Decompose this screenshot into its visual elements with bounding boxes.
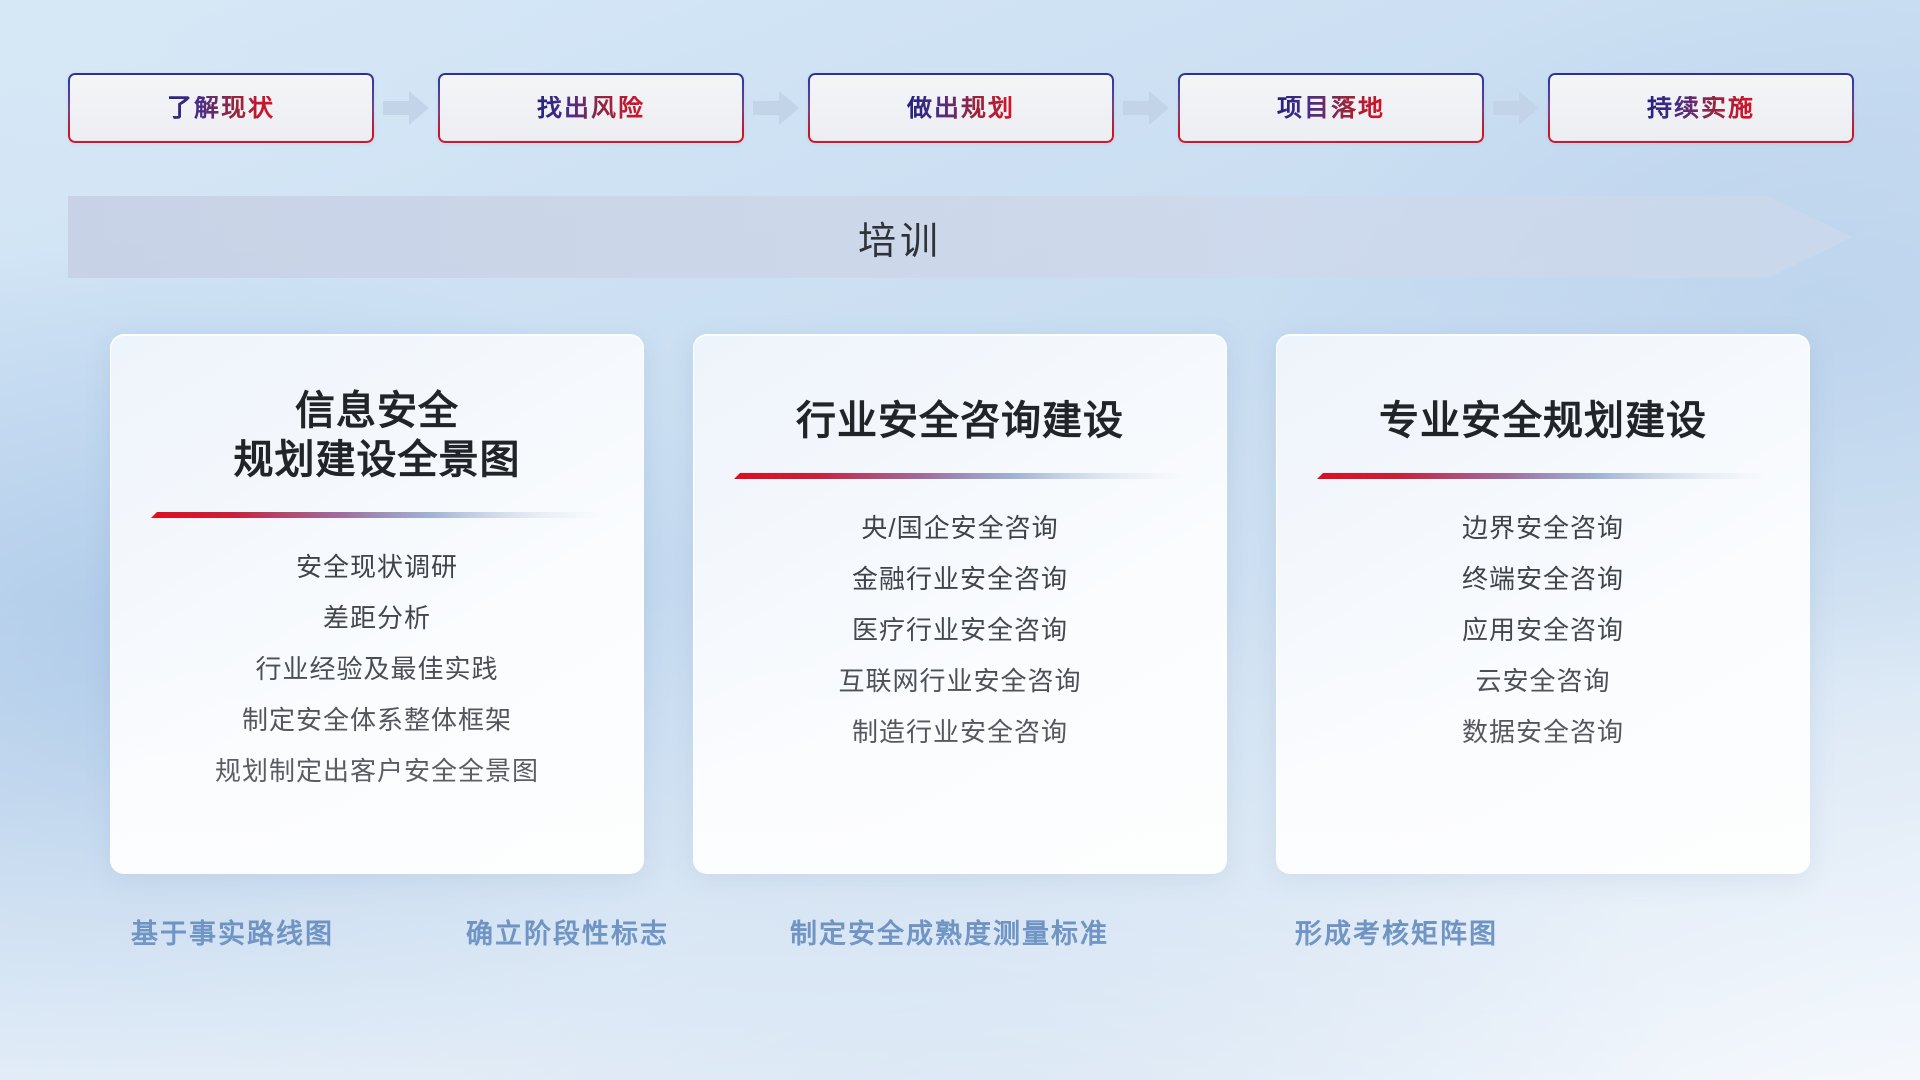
card-info-security-blueprint[interactable]: 信息安全 规划建设全景图 [110,334,644,874]
card-item-list: 央/国企安全咨询 金融行业安全咨询 医疗行业安全咨询 互联网行业安全咨询 制造行… [838,509,1081,752]
card-row: 信息安全 规划建设全景图 [110,334,1810,874]
process-step-3[interactable]: 项目落地 [1178,73,1484,143]
footer-label: 基于事实路线图 [131,912,334,951]
process-step-1[interactable]: 找出风险 [438,73,744,143]
process-step-0[interactable]: 了解现状 [68,73,374,143]
process-step-4[interactable]: 持续实施 [1548,73,1854,143]
card-list-item: 制定安全体系整体框架 [242,701,512,740]
process-step-2[interactable]: 做出规划 [808,73,1114,143]
process-step-label: 项目落地 [1277,96,1385,121]
process-step-row: 了解现状 找出风险 做出规划 项目落地 [68,72,1858,144]
right-arrow-icon [744,73,808,143]
footer-label: 形成考核矩阵图 [1295,912,1498,951]
card-list-item: 边界安全咨询 [1462,509,1624,548]
card-list-item: 央/国企安全咨询 [861,509,1058,548]
card-list-item: 医疗行业安全咨询 [852,611,1068,650]
card-list-item: 数据安全咨询 [1462,713,1624,752]
card-list-item: 安全现状调研 [296,548,458,587]
process-step-label: 找出风险 [537,96,645,121]
gradient-divider-icon [151,511,603,520]
card-list-item: 终端安全咨询 [1462,560,1624,599]
card-professional-security-planning[interactable]: 专业安全规划建设 [1276,334,1810,874]
card-list-item: 差距分析 [323,599,431,638]
footer-label-row: 基于事实路线图 确立阶段性标志 制定安全成熟度测量标准 形成考核矩阵图 [0,912,1920,960]
card-list-item: 制造行业安全咨询 [852,713,1068,752]
training-band-label: 培训 [68,196,1852,278]
process-step-label: 了解现状 [167,96,275,121]
card-list-item: 规划制定出客户安全全景图 [215,752,539,791]
card-industry-security-consulting[interactable]: 行业安全咨询建设 [693,334,1227,874]
card-item-list: 边界安全咨询 终端安全咨询 应用安全咨询 云安全咨询 数据安全咨询 [1462,509,1624,752]
gradient-divider-icon [734,472,1186,481]
process-step-label: 做出规划 [907,96,1015,121]
footer-label: 制定安全成熟度测量标准 [790,912,1109,951]
gradient-divider-icon [1317,472,1769,481]
process-step-label: 持续实施 [1647,96,1755,121]
card-list-item: 云安全咨询 [1475,662,1610,701]
card-title: 行业安全咨询建设 [796,397,1124,446]
card-list-item: 金融行业安全咨询 [852,560,1068,599]
training-band: 培训 [68,196,1852,278]
card-list-item: 互联网行业安全咨询 [838,662,1081,701]
slide-canvas: 了解现状 找出风险 做出规划 项目落地 [0,0,1920,1080]
card-title: 专业安全规划建设 [1379,397,1707,446]
card-title: 信息安全 规划建设全景图 [234,387,521,485]
footer-label: 确立阶段性标志 [466,912,669,951]
card-item-list: 安全现状调研 差距分析 行业经验及最佳实践 制定安全体系整体框架 规划制定出客户… [215,548,539,791]
right-arrow-icon [374,73,438,143]
right-arrow-icon [1484,73,1548,143]
card-list-item: 应用安全咨询 [1462,611,1624,650]
right-arrow-icon [1114,73,1178,143]
card-list-item: 行业经验及最佳实践 [255,650,498,689]
